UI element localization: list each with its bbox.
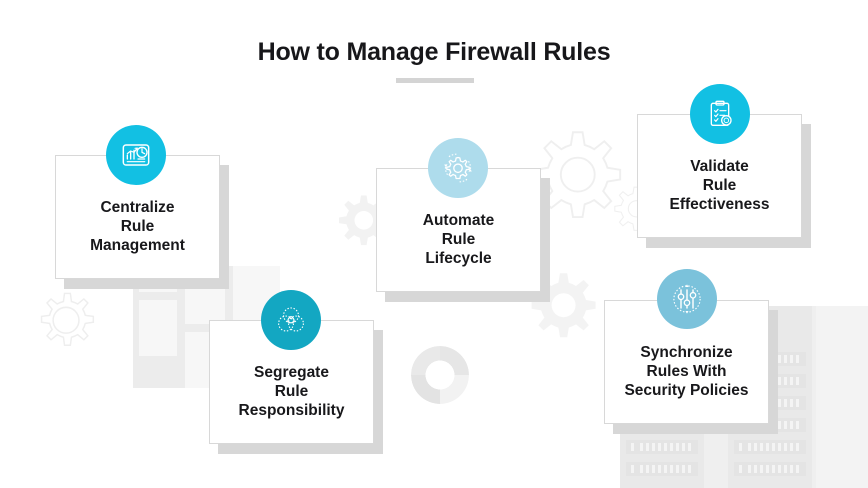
card-label: Centralize Rule Management — [56, 198, 219, 255]
donut-chart-decoration — [411, 346, 469, 404]
settings-sliders-icon — [657, 269, 717, 329]
clipboard-checklist-seal-icon — [690, 84, 750, 144]
infographic-canvas: How to Manage Firewall Rules Centralize … — [0, 0, 868, 488]
card-label: Synchronize Rules With Security Policies — [605, 343, 768, 400]
title-underline — [396, 78, 474, 83]
card-label: Segregate Rule Responsibility — [210, 363, 373, 420]
page-title: How to Manage Firewall Rules — [0, 38, 868, 67]
card-label: Validate Rule Effectiveness — [638, 157, 801, 214]
venn-diagram-icon — [261, 290, 321, 350]
gear-cycle-icon — [428, 138, 488, 198]
gear-outline-left-icon — [25, 283, 101, 359]
analytics-dashboard-icon — [106, 125, 166, 185]
card-label: Automate Rule Lifecycle — [377, 211, 540, 268]
